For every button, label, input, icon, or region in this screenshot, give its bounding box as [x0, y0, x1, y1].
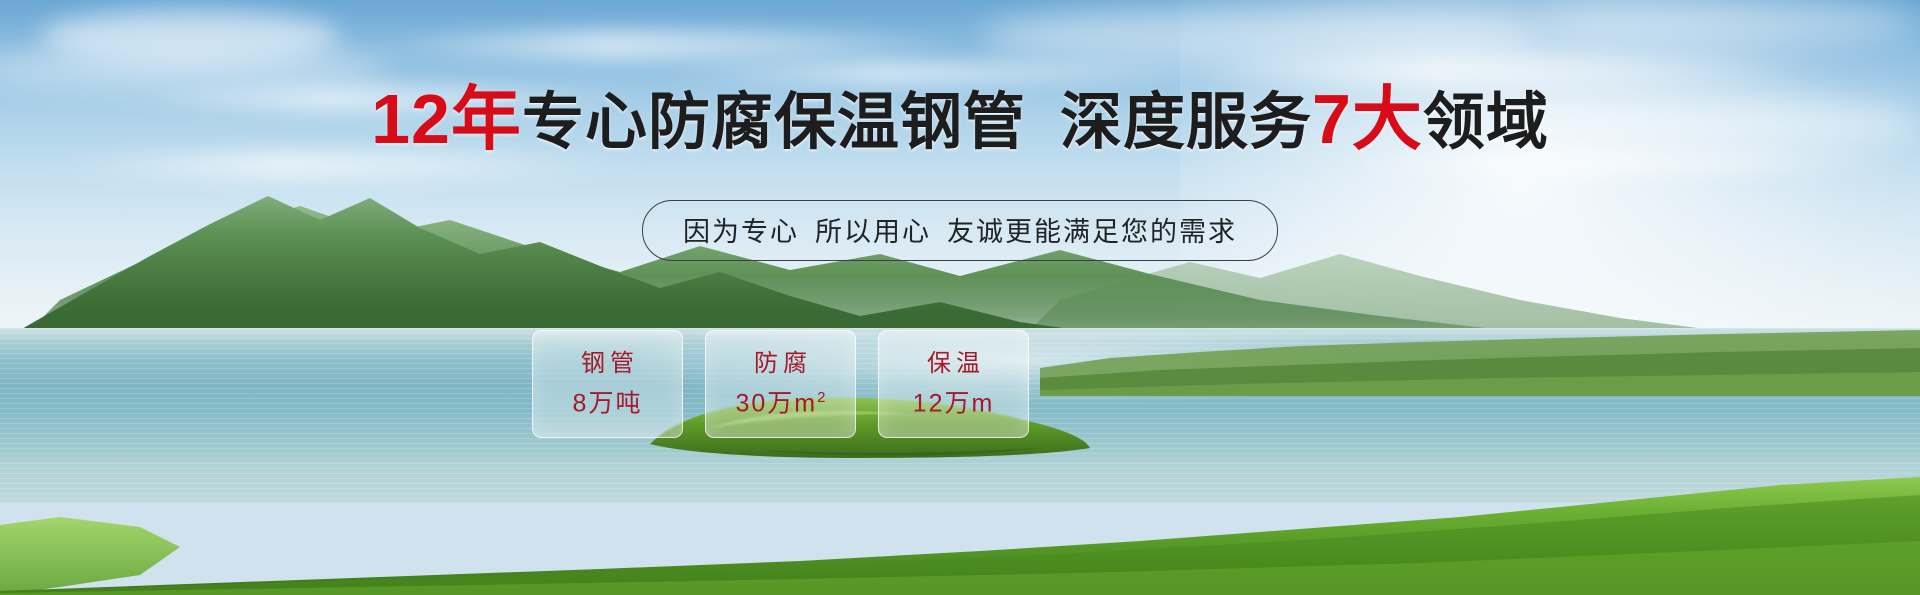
headline-service: 深度服务 — [1060, 88, 1312, 157]
foreground-grass — [0, 455, 1920, 595]
stat-card-anticorrosion[interactable]: 防腐 30万m2 — [705, 330, 856, 438]
headline-years: 12年 — [371, 80, 522, 158]
stat-card-value: 12万m — [913, 390, 995, 416]
headline: 12年专心防腐保温钢管深度服务7大领域 — [0, 84, 1920, 154]
subtitle-pill: 因为专心所以用心友诚更能满足您的需求 — [642, 200, 1278, 261]
subtitle-seg-3: 友诚更能满足您的需求 — [947, 217, 1237, 247]
subtitle-seg-2: 所以用心 — [815, 217, 931, 247]
stat-card-value: 30万m2 — [736, 390, 826, 416]
stat-card-steel-pipe[interactable]: 钢管 8万吨 — [532, 330, 683, 438]
stat-card-title: 防腐 — [749, 352, 812, 376]
subtitle-seg-1: 因为专心 — [683, 217, 799, 247]
stat-value-superscript: 2 — [817, 389, 825, 406]
stat-card-title: 钢管 — [576, 352, 639, 376]
stat-card-list: 钢管 8万吨 防腐 30万m2 保温 12万m — [532, 330, 1029, 438]
headline-count: 7 — [1312, 80, 1352, 158]
stat-card-title: 保温 — [922, 352, 985, 376]
promo-banner: 12年专心防腐保温钢管深度服务7大领域 因为专心所以用心友诚更能满足您的需求 钢… — [0, 0, 1920, 595]
stat-value-text: 12万m — [913, 389, 995, 417]
far-shore-right — [1040, 316, 1920, 396]
headline-da: 大 — [1352, 80, 1423, 158]
headline-fields: 领域 — [1423, 88, 1549, 157]
headline-main: 专心防腐保温钢管 — [522, 88, 1026, 157]
stat-card-value: 8万吨 — [573, 390, 643, 416]
stat-value-text: 30万m — [736, 389, 818, 417]
stat-card-insulation[interactable]: 保温 12万m — [878, 330, 1029, 438]
stat-value-text: 8万吨 — [573, 389, 643, 417]
